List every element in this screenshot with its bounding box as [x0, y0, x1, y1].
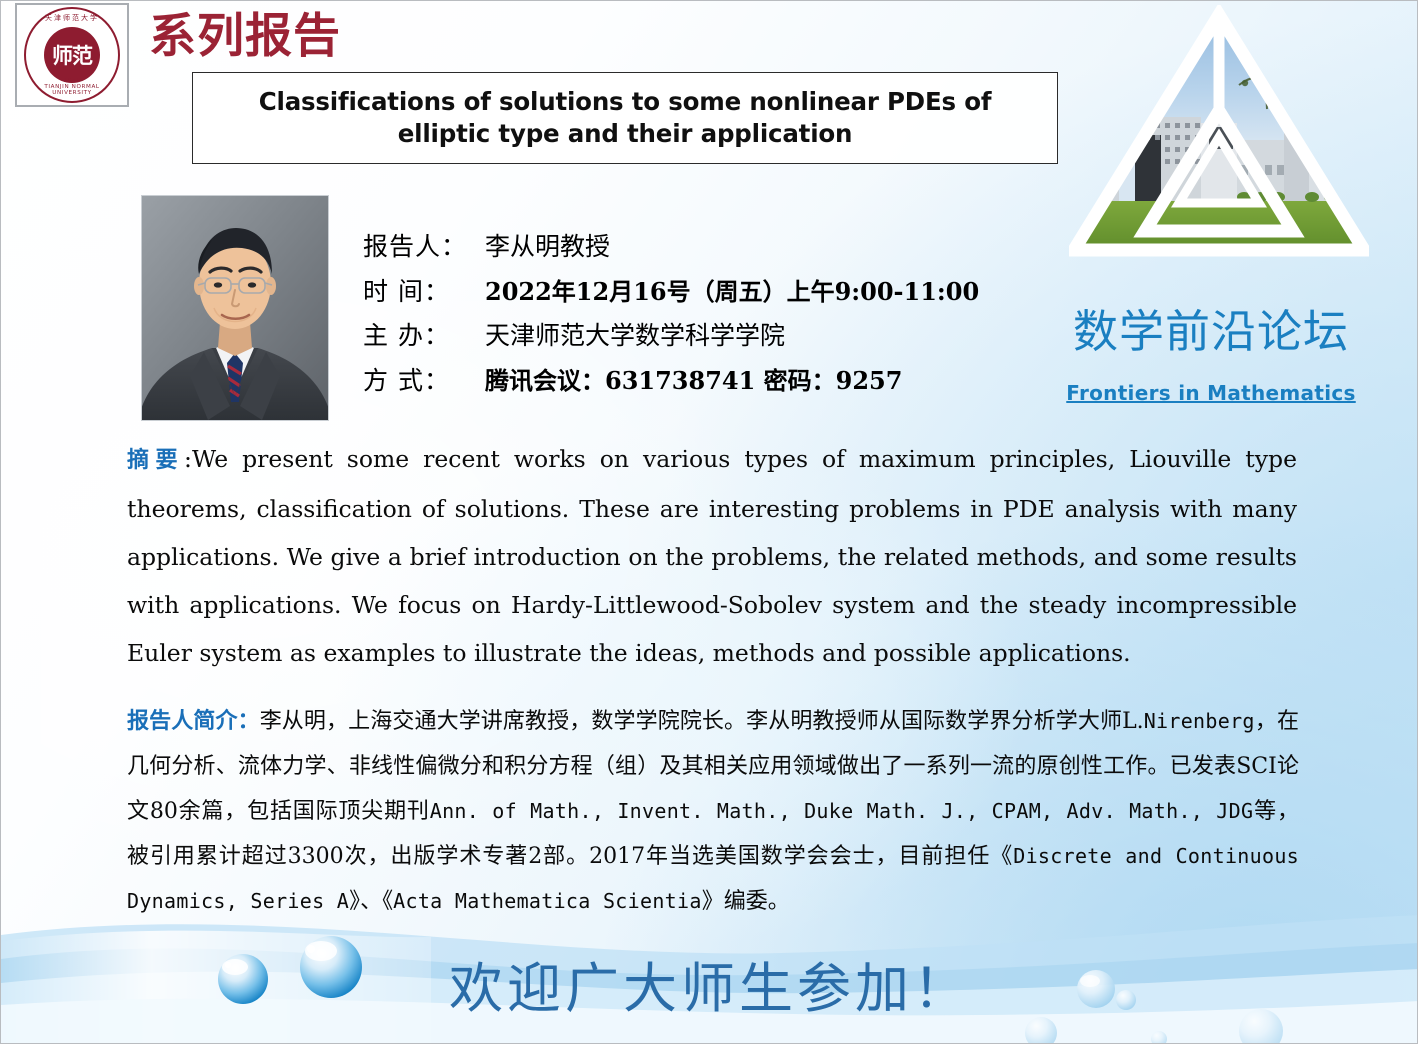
info-value-organizer: 天津师范大学数学科学学院: [485, 316, 785, 352]
info-row-speaker: 报告人： 李从明教授: [363, 227, 1023, 260]
speaker-portrait-image: [141, 195, 329, 421]
seal-center-text: 师范: [44, 27, 100, 83]
info-label-speaker: 报告人：: [363, 227, 485, 263]
forum-title-en: Frontiers in Mathematics: [1031, 381, 1391, 405]
triangle-campus-logo-icon: [1069, 5, 1369, 275]
abstract-text: We present some recent works on various …: [127, 445, 1297, 667]
info-label-method: 方 式：: [363, 361, 485, 397]
talk-info-block: 报告人： 李从明教授 时 间： 2022年12月16号（周五）上午9:00-11…: [363, 227, 1023, 405]
info-label-time: 时 间：: [363, 272, 485, 308]
info-row-method: 方 式： 腾讯会议：631738741 密码：9257: [363, 361, 1023, 394]
seal-top-text: 天津师范大学: [26, 13, 118, 23]
info-row-organizer: 主 办： 天津师范大学数学科学学院: [363, 316, 1023, 349]
info-row-time: 时 间： 2022年12月16号（周五）上午9:00-11:00: [363, 272, 1023, 305]
abstract-label: 摘要: [127, 448, 184, 473]
talk-title: Classifications of solutions to some non…: [225, 86, 1025, 151]
series-label: 系列报告: [149, 13, 341, 60]
seminar-poster: 天津师范大学 师范 1958 TIANJIN NORMAL UNIVERSITY…: [0, 0, 1418, 1044]
bio-mono1: Nirenberg: [1144, 709, 1255, 733]
seal-bottom-text: TIANJIN NORMAL UNIVERSITY: [25, 84, 119, 96]
bio-part1: 李从明，上海交通大学讲席教授，数学学院院长。李从明教授师从国际数学界分析学大师L…: [260, 709, 1144, 734]
abstract-separator: :: [184, 445, 192, 473]
speaker-bio-block: 报告人简介：李从明，上海交通大学讲席教授，数学学院院长。李从明教授师从国际数学界…: [127, 699, 1299, 924]
info-value-time: 2022年12月16号（周五）上午9:00-11:00: [485, 272, 979, 307]
info-label-organizer: 主 办：: [363, 316, 485, 352]
forum-title-cn: 数学前沿论坛: [1031, 309, 1391, 354]
talk-title-box: Classifications of solutions to some non…: [192, 72, 1058, 164]
bio-label: 报告人简介：: [127, 709, 260, 734]
abstract-block: 摘要:We present some recent works on vario…: [127, 435, 1297, 677]
university-seal: 天津师范大学 师范 1958 TIANJIN NORMAL UNIVERSITY: [15, 3, 129, 107]
bio-mono2: Ann. of Math., Invent. Math., Duke Math.…: [430, 799, 1254, 823]
welcome-message: 欢迎广大师生参加！: [1, 944, 1418, 1023]
info-value-method: 腾讯会议：631738741 密码：9257: [485, 361, 902, 396]
seal-year: 1958: [26, 77, 118, 84]
university-seal-icon: 天津师范大学 师范 1958 TIANJIN NORMAL UNIVERSITY: [24, 7, 120, 103]
info-value-speaker: 李从明教授: [485, 227, 610, 263]
